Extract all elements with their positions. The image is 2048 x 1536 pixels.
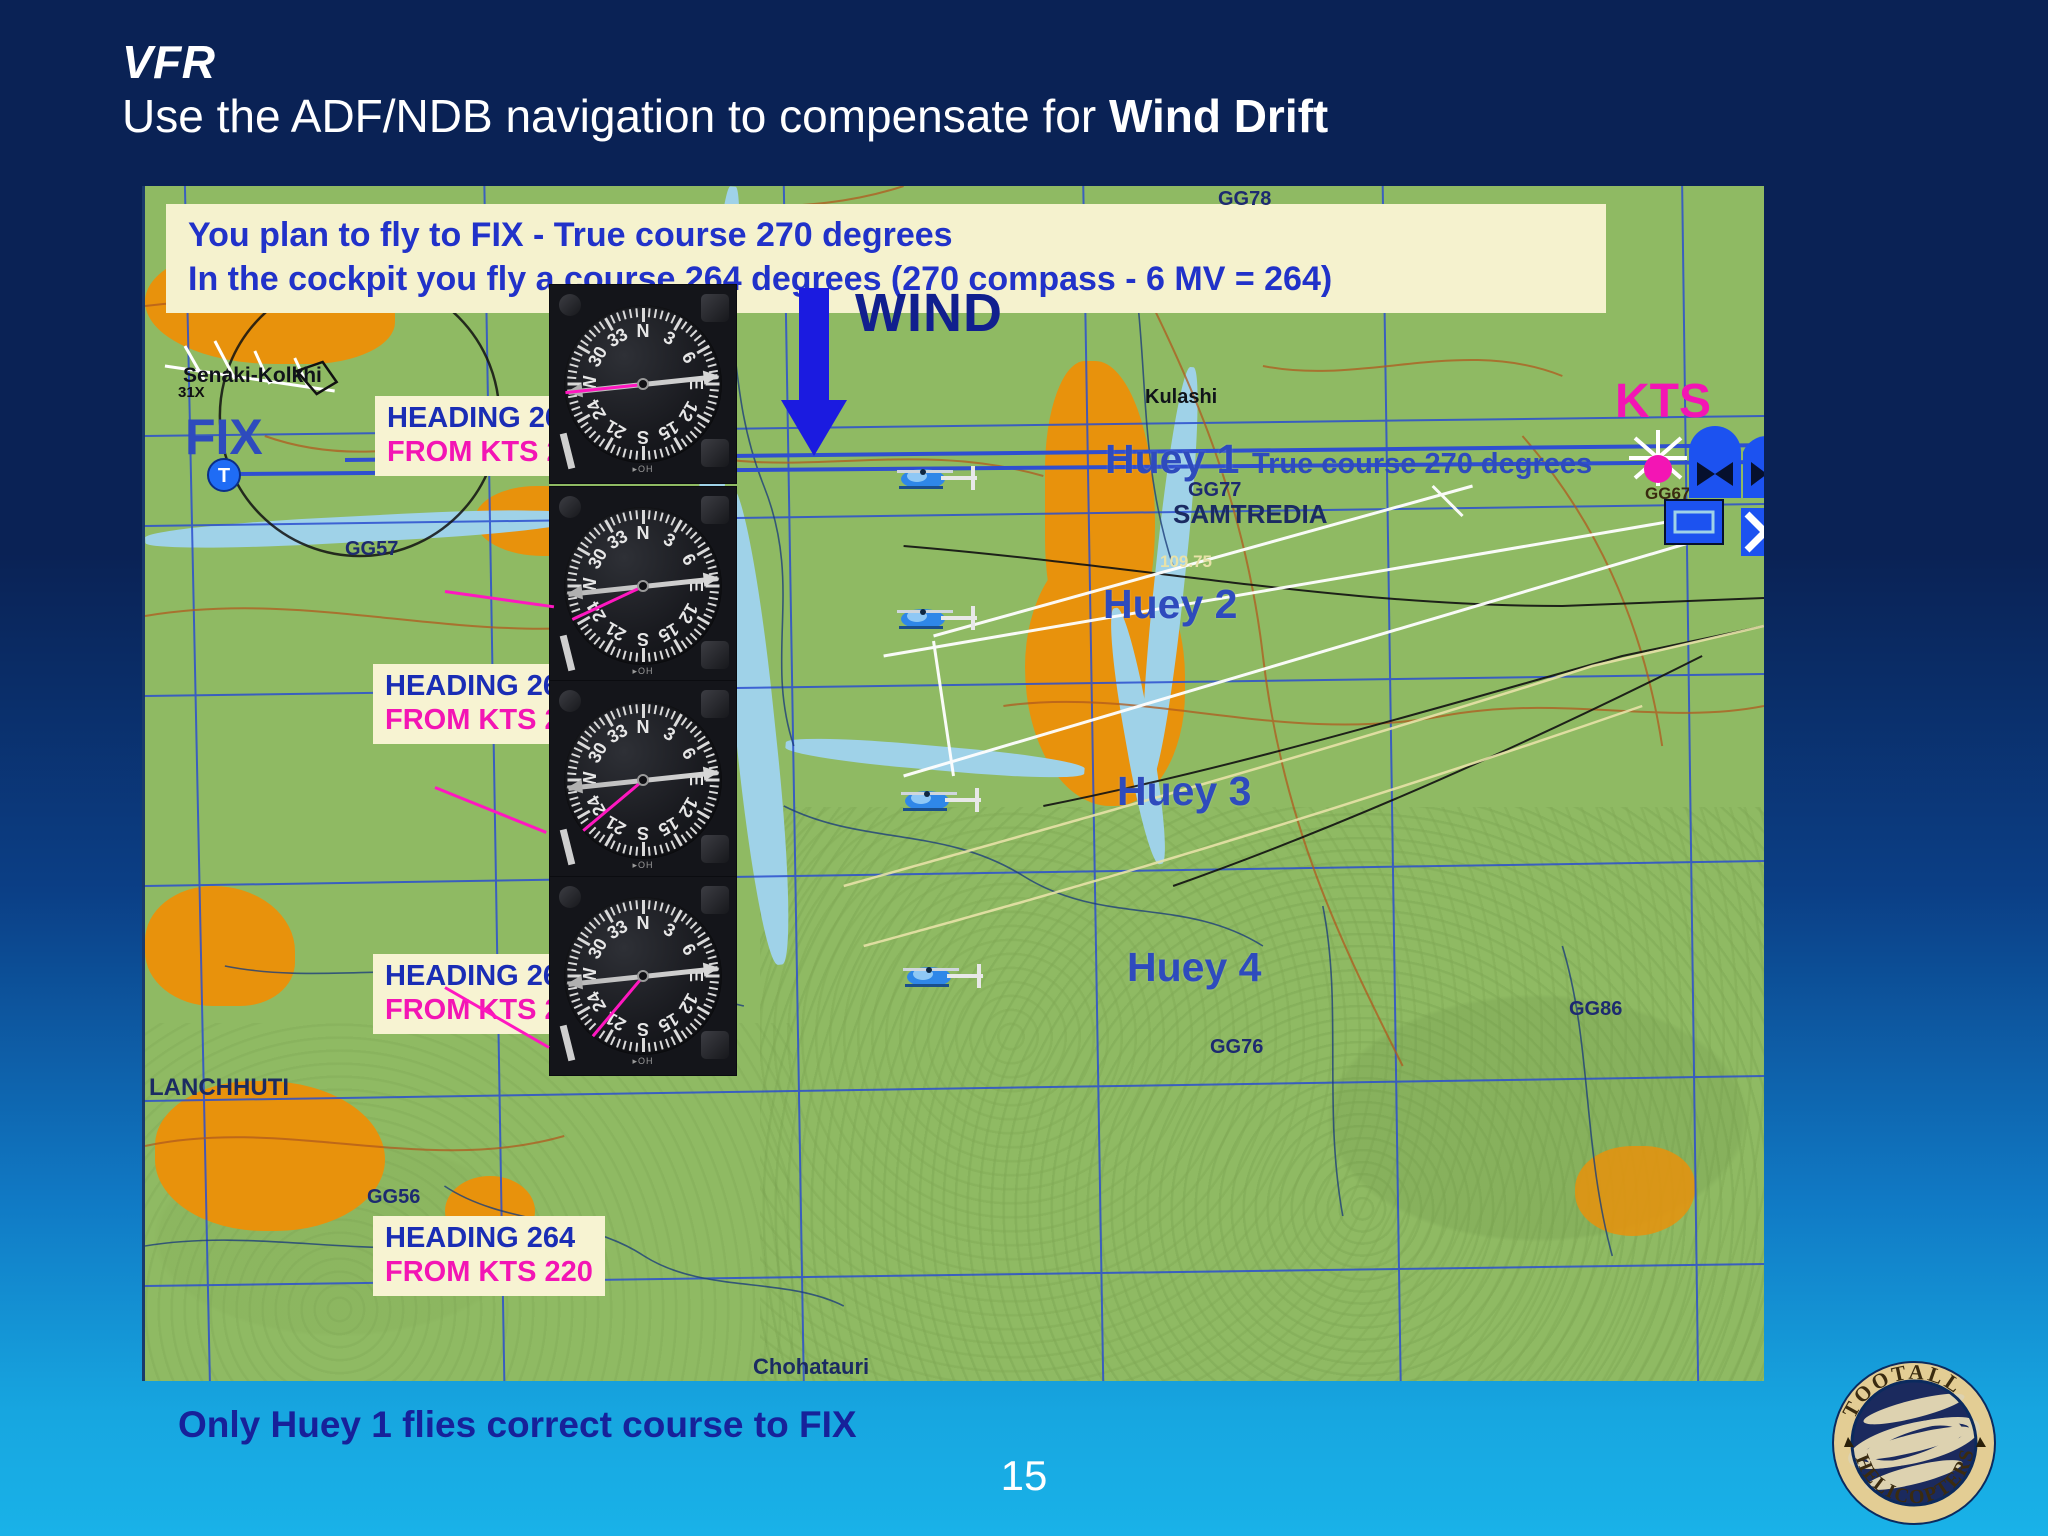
adf-needle-hub bbox=[637, 580, 649, 592]
compass-tick bbox=[629, 511, 633, 520]
compass-tick bbox=[670, 444, 676, 453]
adf-bezel: N36E1215S2124W3033 bbox=[564, 507, 722, 665]
compass-tick bbox=[589, 726, 597, 734]
compass-tick bbox=[690, 922, 698, 930]
compass-card-label: S bbox=[634, 822, 652, 843]
compass-tick bbox=[584, 730, 592, 737]
compass-tick bbox=[665, 708, 670, 717]
adf-base-marking: ▸OH bbox=[632, 666, 653, 677]
friendly-unit-symbol bbox=[1685, 424, 1764, 504]
place-label-samtredia: SAMTREDIA bbox=[1173, 499, 1328, 530]
compass-card-label: 30 bbox=[584, 547, 611, 573]
compass-tick bbox=[707, 400, 716, 404]
place-label-kulashi: Kulashi bbox=[1145, 386, 1217, 409]
compass-tick bbox=[569, 955, 578, 959]
compass-tick bbox=[670, 517, 676, 526]
adf-needle-hub bbox=[637, 970, 649, 982]
adf-slip-indicator bbox=[560, 635, 576, 672]
compass-tick bbox=[635, 451, 638, 460]
compass-card-label: 21 bbox=[604, 416, 630, 443]
compass-tick bbox=[706, 998, 715, 1003]
adf-bezel: N36E1215S2124W3033 bbox=[564, 897, 722, 1055]
place-label-lanchhuti: LANCHHUTI bbox=[149, 1074, 289, 1102]
adf-bezel: N36E1215S2124W3033 bbox=[564, 305, 722, 463]
compass-tick bbox=[706, 608, 715, 613]
compass-tick bbox=[681, 438, 688, 447]
compass-tick bbox=[574, 747, 583, 753]
compass-tick bbox=[642, 308, 645, 322]
compass-tick bbox=[690, 827, 698, 835]
compass-card-label: N bbox=[634, 717, 652, 738]
adf-instrument-1[interactable]: N36E1215S2124W3033▸OH bbox=[549, 284, 737, 484]
compass-tick bbox=[694, 628, 702, 635]
compass-card-label: 15 bbox=[656, 416, 682, 443]
compass-tick bbox=[571, 949, 580, 954]
compass-tick bbox=[622, 512, 626, 521]
compass-tick bbox=[654, 846, 658, 855]
compass-tick bbox=[616, 1039, 621, 1048]
compass-tick bbox=[681, 717, 688, 726]
adf-needle-hub bbox=[637, 378, 649, 390]
compass-tick bbox=[665, 649, 670, 658]
compass-tick bbox=[610, 840, 616, 849]
compass-card-label: 15 bbox=[656, 812, 682, 839]
compass-card-label: 6 bbox=[675, 547, 702, 573]
compass-tick bbox=[670, 840, 676, 849]
compass-tick bbox=[694, 926, 702, 933]
compass-tick bbox=[616, 447, 621, 456]
adf-slip-indicator bbox=[560, 1025, 576, 1062]
compass-tick bbox=[571, 998, 580, 1003]
compass-tick bbox=[690, 532, 698, 540]
adf-knob-tr[interactable] bbox=[701, 496, 729, 524]
compass-tick bbox=[703, 351, 712, 357]
airfield-cross-symbol bbox=[1735, 502, 1764, 562]
adf-knob-br[interactable] bbox=[701, 835, 729, 863]
compass-tick bbox=[697, 624, 706, 631]
adf-knob-tl[interactable] bbox=[559, 496, 581, 518]
page-title: VFR bbox=[122, 38, 1922, 86]
compass-tick bbox=[690, 726, 698, 734]
compass-card-label: 15 bbox=[656, 618, 682, 645]
compass-tick bbox=[706, 406, 715, 411]
compass-tick bbox=[571, 802, 580, 807]
compass-tick bbox=[629, 652, 633, 661]
compass-tick bbox=[568, 572, 577, 576]
compass-tick bbox=[584, 536, 592, 543]
compass-tick bbox=[569, 400, 578, 404]
compass-tick bbox=[709, 395, 718, 399]
compass-tick bbox=[690, 330, 698, 338]
page-subtitle: Use the ADF/NDB navigation to compensate… bbox=[122, 90, 1922, 143]
adf-knob-tl[interactable] bbox=[559, 690, 581, 712]
adf-slip-indicator bbox=[560, 829, 576, 866]
compass-tick bbox=[665, 447, 670, 456]
compass-card-label: 30 bbox=[584, 741, 611, 767]
compass-tick bbox=[642, 900, 645, 914]
airfield-code-label: 31X bbox=[178, 384, 205, 401]
compass-tick bbox=[569, 992, 578, 996]
compass-tick bbox=[568, 370, 577, 374]
compass-tick bbox=[694, 1018, 702, 1025]
compass-tick bbox=[681, 321, 688, 330]
compass-tick bbox=[681, 834, 688, 843]
compass-tick bbox=[697, 736, 706, 743]
compass-card-label: 30 bbox=[584, 937, 611, 963]
compass-tick bbox=[703, 747, 712, 753]
compass-tick bbox=[622, 902, 626, 911]
compass-tick bbox=[599, 438, 606, 447]
compass-tick bbox=[685, 435, 692, 443]
compass-tick bbox=[629, 1042, 633, 1051]
compass-tick bbox=[665, 312, 670, 321]
compass-tick bbox=[567, 968, 576, 971]
compass-tick bbox=[648, 900, 651, 909]
compass-tick bbox=[622, 448, 626, 457]
compass-card-label: 12 bbox=[675, 599, 702, 625]
compass-tick bbox=[697, 422, 706, 429]
compass-card-label: 3 bbox=[656, 721, 682, 748]
compass-tick bbox=[690, 431, 698, 439]
compass-card-label: 6 bbox=[675, 345, 702, 371]
compass-tick bbox=[654, 511, 658, 520]
compass-card-label: 30 bbox=[584, 345, 611, 371]
adf-instrument-3[interactable]: N36E1215S2124W3033▸OH bbox=[549, 680, 737, 880]
wind-direction-arrow bbox=[779, 288, 849, 458]
compass-tick bbox=[574, 553, 583, 559]
compass-tick bbox=[659, 706, 663, 715]
compass-card-label: S bbox=[634, 628, 652, 649]
compass-tick bbox=[593, 917, 600, 925]
compass-tick bbox=[707, 955, 716, 959]
compass-tick bbox=[707, 796, 716, 800]
place-label-chohatauri: Chohatauri bbox=[753, 1354, 869, 1380]
compass-tick bbox=[648, 1043, 651, 1052]
compass-tick bbox=[616, 514, 621, 523]
compass-tick bbox=[642, 704, 645, 718]
adf-instrument-4[interactable]: N36E1215S2124W3033▸OH bbox=[549, 876, 737, 1076]
compass-tick bbox=[654, 705, 658, 714]
aircraft-label-huey-4: Huey 4 bbox=[1127, 944, 1261, 991]
compass-tick bbox=[616, 843, 621, 852]
adf-base-marking: ▸OH bbox=[632, 860, 653, 871]
compass-tick bbox=[571, 559, 580, 564]
compass-tick bbox=[659, 844, 663, 853]
compass-tick bbox=[610, 444, 616, 453]
compass-tick bbox=[670, 907, 676, 916]
helicopter-icon-huey-2[interactable] bbox=[893, 594, 989, 636]
helicopter-icon-huey-1[interactable] bbox=[893, 454, 989, 496]
aircraft-label-huey-2: Huey 2 bbox=[1103, 581, 1237, 628]
compass-tick bbox=[593, 721, 600, 729]
compass-card-label: N bbox=[634, 913, 652, 934]
compass-tick bbox=[706, 802, 715, 807]
compass-tick bbox=[567, 578, 576, 581]
compass-tick bbox=[659, 902, 663, 911]
compass-tick bbox=[648, 308, 651, 317]
compass-tick bbox=[694, 730, 702, 737]
compass-tick bbox=[690, 1023, 698, 1031]
compass-tick bbox=[629, 450, 633, 459]
compass-tick bbox=[580, 624, 589, 631]
compass-tick bbox=[571, 753, 580, 758]
compass-tick bbox=[589, 633, 597, 641]
grid-label-gg86: GG86 bbox=[1569, 998, 1622, 1021]
compass-tick bbox=[589, 330, 597, 338]
heading-callout-4: HEADING 264 FROM KTS 220 bbox=[373, 1216, 605, 1296]
compass-tick bbox=[703, 553, 712, 559]
compass-tick bbox=[580, 932, 589, 939]
compass-tick bbox=[654, 450, 658, 459]
compass-tick bbox=[593, 637, 600, 645]
compass-tick bbox=[635, 1043, 638, 1052]
compass-tick bbox=[697, 340, 706, 347]
adf-instrument-2[interactable]: N36E1215S2124W3033▸OH bbox=[549, 486, 737, 686]
compass-tick bbox=[574, 1003, 583, 1009]
adf-knob-tl[interactable] bbox=[559, 886, 581, 908]
compass-tick bbox=[584, 926, 592, 933]
compass-tick bbox=[593, 527, 600, 535]
compass-tick bbox=[580, 1014, 589, 1021]
adf-knob-tr[interactable] bbox=[701, 690, 729, 718]
compass-tick bbox=[589, 431, 597, 439]
navaid-frequency-label: 109.75 bbox=[1160, 552, 1212, 572]
compass-card-label: S bbox=[634, 426, 652, 447]
compass-card-label: 33 bbox=[604, 325, 630, 352]
compass-tick bbox=[665, 514, 670, 523]
compass-tick bbox=[599, 834, 606, 843]
adf-bezel: N36E1215S2124W3033 bbox=[564, 701, 722, 859]
compass-tick bbox=[703, 613, 712, 619]
compass-tick bbox=[571, 357, 580, 362]
compass-tick bbox=[670, 646, 676, 655]
compass-tick bbox=[567, 772, 576, 775]
grid-label-gg56: GG56 bbox=[367, 1186, 420, 1209]
compass-card-label: 12 bbox=[675, 397, 702, 423]
compass-tick bbox=[580, 542, 589, 549]
compass-tick bbox=[685, 637, 692, 645]
installation-symbol bbox=[1663, 498, 1733, 552]
compass-card-label: 21 bbox=[604, 1008, 630, 1035]
compass-tick bbox=[703, 943, 712, 949]
compass-tick bbox=[635, 704, 638, 713]
wind-label: WIND bbox=[855, 282, 1003, 344]
compass-tick bbox=[574, 807, 583, 813]
compass-tick bbox=[622, 706, 626, 715]
compass-tick bbox=[569, 759, 578, 763]
compass-tick bbox=[709, 597, 718, 601]
compass-tick bbox=[648, 451, 651, 460]
adf-slip-indicator bbox=[560, 433, 576, 470]
compass-tick bbox=[681, 913, 688, 922]
compass-tick bbox=[665, 843, 670, 852]
compass-tick bbox=[610, 711, 616, 720]
compass-tick bbox=[685, 831, 692, 839]
compass-tick bbox=[697, 932, 706, 939]
compass-tick bbox=[710, 981, 719, 984]
compass-tick bbox=[697, 1014, 706, 1021]
compass-card-label: 3 bbox=[656, 325, 682, 352]
compass-tick bbox=[654, 901, 658, 910]
compass-tick bbox=[599, 717, 606, 726]
compass-card-label: 33 bbox=[604, 721, 630, 748]
compass-tick bbox=[610, 315, 616, 324]
adf-knob-br[interactable] bbox=[701, 1031, 729, 1059]
compass-card-label: 15 bbox=[656, 1008, 682, 1035]
compass-card-label: 6 bbox=[675, 937, 702, 963]
compass-tick bbox=[635, 510, 638, 519]
compass-tick bbox=[569, 565, 578, 569]
compass-tick bbox=[707, 363, 716, 367]
compass-tick bbox=[681, 640, 688, 649]
compass-card-label: N bbox=[634, 321, 652, 342]
compass-tick bbox=[697, 542, 706, 549]
compass-tick bbox=[622, 310, 626, 319]
kts-label: KTS bbox=[1615, 374, 1711, 429]
compass-tick bbox=[580, 340, 589, 347]
fix-marker[interactable]: T bbox=[207, 458, 241, 492]
aircraft-label-huey-1: Huey 1 bbox=[1105, 436, 1239, 483]
compass-card-label: 33 bbox=[604, 917, 630, 944]
compass-tick bbox=[568, 962, 577, 966]
compass-tick bbox=[622, 1040, 626, 1049]
compass-tick bbox=[659, 512, 663, 521]
compass-tick bbox=[707, 992, 716, 996]
compass-tick bbox=[648, 847, 651, 856]
compass-tick bbox=[710, 389, 719, 392]
compass-tick bbox=[599, 321, 606, 330]
heading-value-4: HEADING 264 bbox=[385, 1221, 593, 1255]
compass-tick bbox=[697, 818, 706, 825]
compass-card-label: S bbox=[634, 1018, 652, 1039]
compass-tick bbox=[659, 310, 663, 319]
compass-tick bbox=[593, 325, 600, 333]
compass-tick bbox=[710, 785, 719, 788]
compass-tick bbox=[574, 943, 583, 949]
compass-card-label: 12 bbox=[675, 793, 702, 819]
adf-knob-br[interactable] bbox=[701, 439, 729, 467]
compass-tick bbox=[599, 523, 606, 532]
compass-tick bbox=[589, 922, 597, 930]
compass-tick bbox=[648, 510, 651, 519]
compass-tick bbox=[568, 766, 577, 770]
adf-needle-hub bbox=[637, 774, 649, 786]
compass-tick bbox=[571, 608, 580, 613]
compass-tick bbox=[659, 1040, 663, 1049]
grid-label-gg76: GG76 bbox=[1210, 1036, 1263, 1059]
compass-tick bbox=[642, 842, 645, 856]
compass-tick bbox=[629, 846, 633, 855]
compass-tick bbox=[665, 1039, 670, 1048]
compass-tick bbox=[616, 312, 621, 321]
compass-tick bbox=[629, 309, 633, 318]
compass-tick bbox=[569, 602, 578, 606]
compass-tick bbox=[703, 807, 712, 813]
compass-tick bbox=[681, 523, 688, 532]
adf-knob-tr[interactable] bbox=[701, 294, 729, 322]
compass-tick bbox=[707, 759, 716, 763]
adf-base-marking: ▸OH bbox=[632, 1056, 653, 1067]
compass-card-label: 24 bbox=[584, 397, 611, 423]
summary-note: Only Huey 1 flies correct course to FIX bbox=[178, 1404, 857, 1446]
compass-tick bbox=[694, 536, 702, 543]
compass-card-label: 24 bbox=[584, 989, 611, 1015]
compass-tick bbox=[610, 646, 616, 655]
compass-tick bbox=[599, 913, 606, 922]
compass-tick bbox=[681, 1030, 688, 1039]
compass-tick bbox=[622, 650, 626, 659]
compass-tick bbox=[635, 900, 638, 909]
compass-tick bbox=[642, 510, 645, 524]
compass-tick bbox=[589, 532, 597, 540]
adf-knob-br[interactable] bbox=[701, 641, 729, 669]
compass-tick bbox=[616, 904, 621, 913]
compass-tick bbox=[567, 376, 576, 379]
company-logo: TOOTALL HELICOPTERS bbox=[1828, 1357, 2000, 1529]
info-line-1: You plan to fly to FIX - True course 270… bbox=[188, 214, 1584, 258]
compass-tick bbox=[665, 904, 670, 913]
adf-knob-tr[interactable] bbox=[701, 886, 729, 914]
page-number: 15 bbox=[0, 1452, 2048, 1500]
compass-tick bbox=[642, 648, 645, 662]
compass-card-label: N bbox=[634, 523, 652, 544]
compass-tick bbox=[670, 315, 676, 324]
compass-tick bbox=[569, 363, 578, 367]
compass-tick bbox=[616, 708, 621, 717]
compass-card-label: 33 bbox=[604, 527, 630, 554]
compass-tick bbox=[610, 517, 616, 526]
compass-tick bbox=[707, 602, 716, 606]
compass-tick bbox=[580, 736, 589, 743]
adf-base-marking: ▸OH bbox=[632, 464, 653, 475]
compass-tick bbox=[616, 649, 621, 658]
true-course-label: True course 270 degrees bbox=[1252, 448, 1592, 481]
compass-card-label: 12 bbox=[675, 989, 702, 1015]
compass-card-label: 3 bbox=[656, 527, 682, 554]
compass-tick bbox=[707, 565, 716, 569]
compass-tick bbox=[706, 357, 715, 362]
compass-tick bbox=[610, 1036, 616, 1045]
compass-tick bbox=[642, 1038, 645, 1052]
compass-tick bbox=[694, 334, 702, 341]
compass-card-label: 21 bbox=[604, 618, 630, 645]
compass-tick bbox=[642, 446, 645, 460]
helicopter-icon-huey-3[interactable] bbox=[897, 776, 993, 818]
compass-tick bbox=[670, 711, 676, 720]
compass-card-label: 6 bbox=[675, 741, 702, 767]
compass-tick bbox=[710, 591, 719, 594]
adf-knob-tl[interactable] bbox=[559, 294, 581, 316]
compass-card-label: 3 bbox=[656, 917, 682, 944]
compass-card-label: 21 bbox=[604, 812, 630, 839]
compass-tick bbox=[635, 847, 638, 856]
compass-tick bbox=[706, 559, 715, 564]
map-canvas[interactable]: You plan to fly to FIX - True course 270… bbox=[142, 186, 1764, 1381]
aircraft-label-huey-3: Huey 3 bbox=[1117, 768, 1251, 815]
compass-tick bbox=[571, 406, 580, 411]
compass-tick bbox=[622, 844, 626, 853]
compass-tick bbox=[589, 827, 597, 835]
slide-title-block: VFR Use the ADF/NDB navigation to compen… bbox=[122, 38, 1922, 143]
compass-tick bbox=[648, 704, 651, 713]
compass-tick bbox=[694, 426, 702, 433]
compass-tick bbox=[659, 650, 663, 659]
compass-tick bbox=[610, 907, 616, 916]
compass-tick bbox=[635, 308, 638, 317]
compass-tick bbox=[599, 1030, 606, 1039]
subtitle-plain: Use the ADF/NDB navigation to compensate… bbox=[122, 90, 1109, 142]
helicopter-icon-huey-4[interactable] bbox=[899, 952, 995, 994]
